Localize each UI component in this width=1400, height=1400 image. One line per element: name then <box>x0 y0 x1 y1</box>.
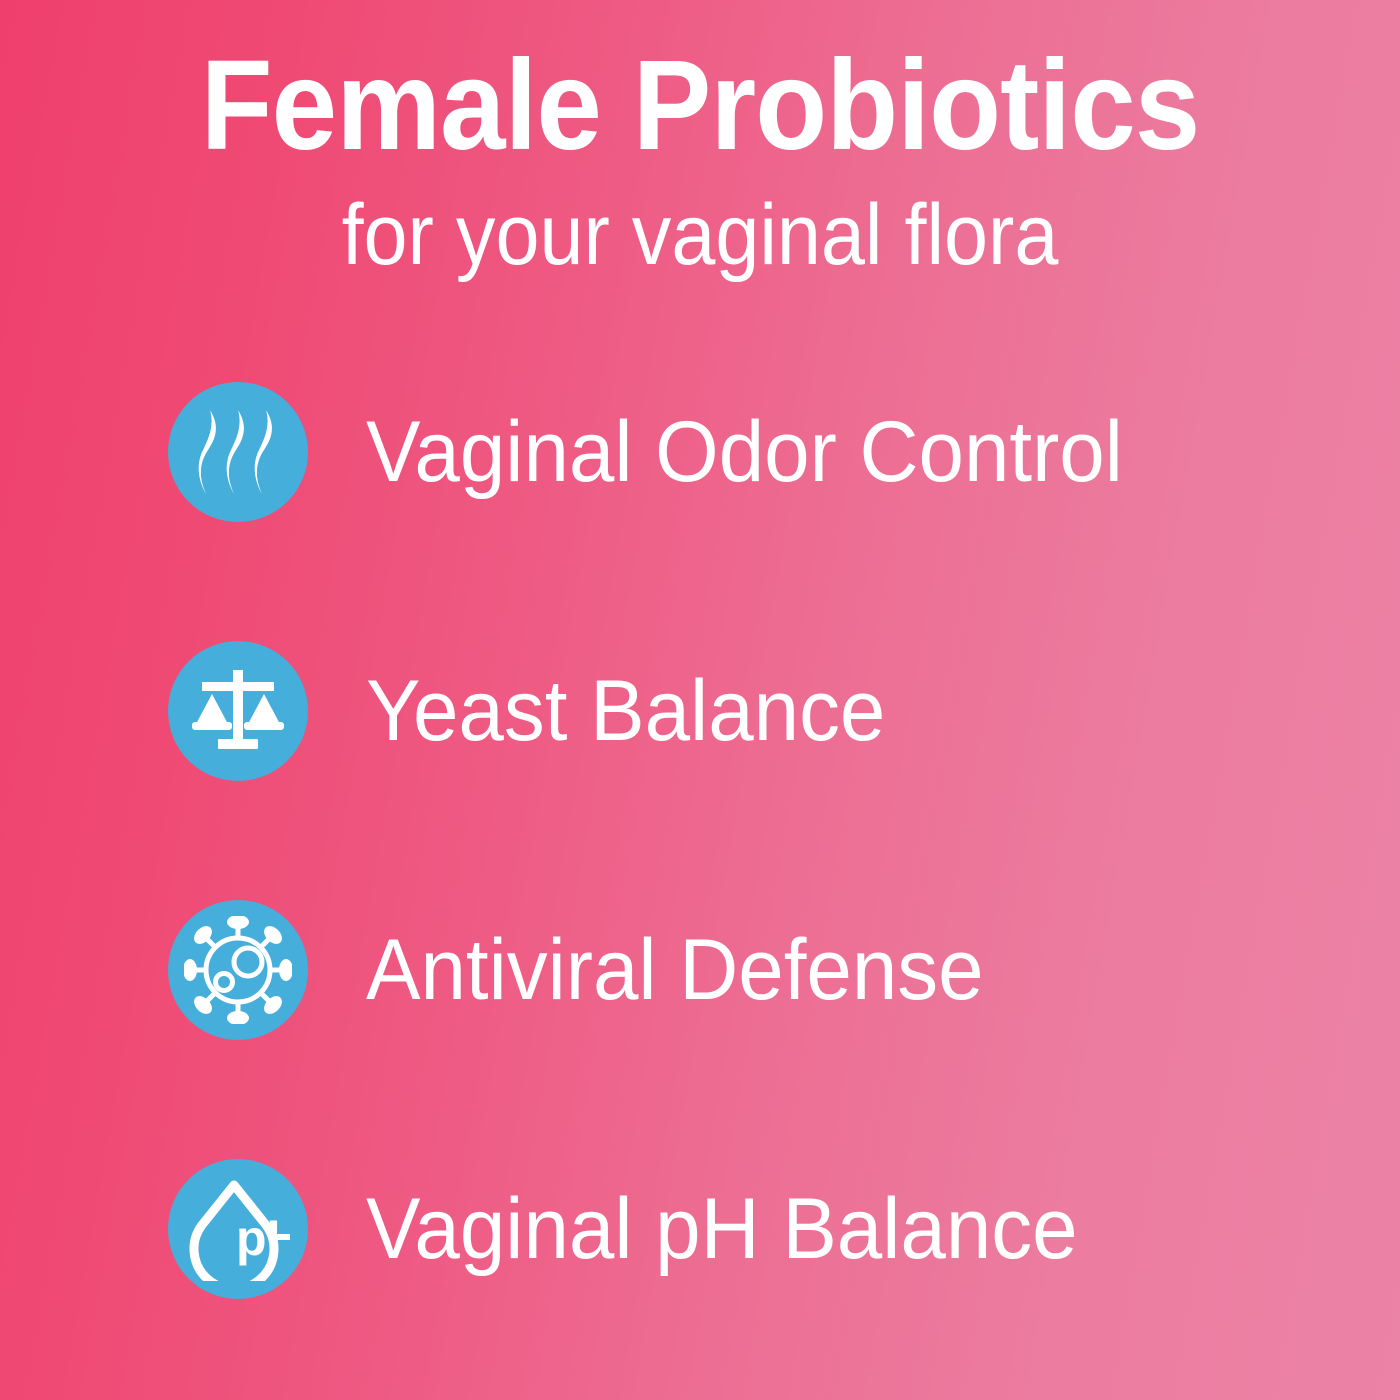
benefits-list: Vaginal Odor Control <box>168 372 1318 1309</box>
virus-icon <box>184 916 292 1024</box>
benefit-label: Vaginal Odor Control <box>366 409 1123 495</box>
page-subtitle: for your vaginal flora <box>56 192 1344 278</box>
benefit-item-odor-control: Vaginal Odor Control <box>168 372 1318 532</box>
balance-scales-icon <box>190 666 286 756</box>
odor-waves-icon <box>192 404 284 500</box>
ph-icon-text: pH <box>236 1210 290 1266</box>
icon-badge <box>168 382 308 522</box>
icon-badge <box>168 641 308 781</box>
benefit-item-ph-balance: pH Vaginal pH Balance <box>168 1149 1318 1309</box>
ph-droplet-icon: pH <box>186 1177 290 1281</box>
header-block: Female Probiotics for your vaginal flora <box>0 42 1400 278</box>
page-title: Female Probiotics <box>56 42 1344 170</box>
promo-poster: Female Probiotics for your vaginal flora… <box>0 0 1400 1400</box>
benefit-label: Vaginal pH Balance <box>366 1186 1078 1272</box>
benefit-item-yeast-balance: Yeast Balance <box>168 631 1318 791</box>
icon-badge <box>168 900 308 1040</box>
benefit-label: Yeast Balance <box>366 668 885 754</box>
benefit-item-antiviral-defense: Antiviral Defense <box>168 890 1318 1050</box>
icon-badge: pH <box>168 1159 308 1299</box>
benefit-label: Antiviral Defense <box>366 927 984 1013</box>
